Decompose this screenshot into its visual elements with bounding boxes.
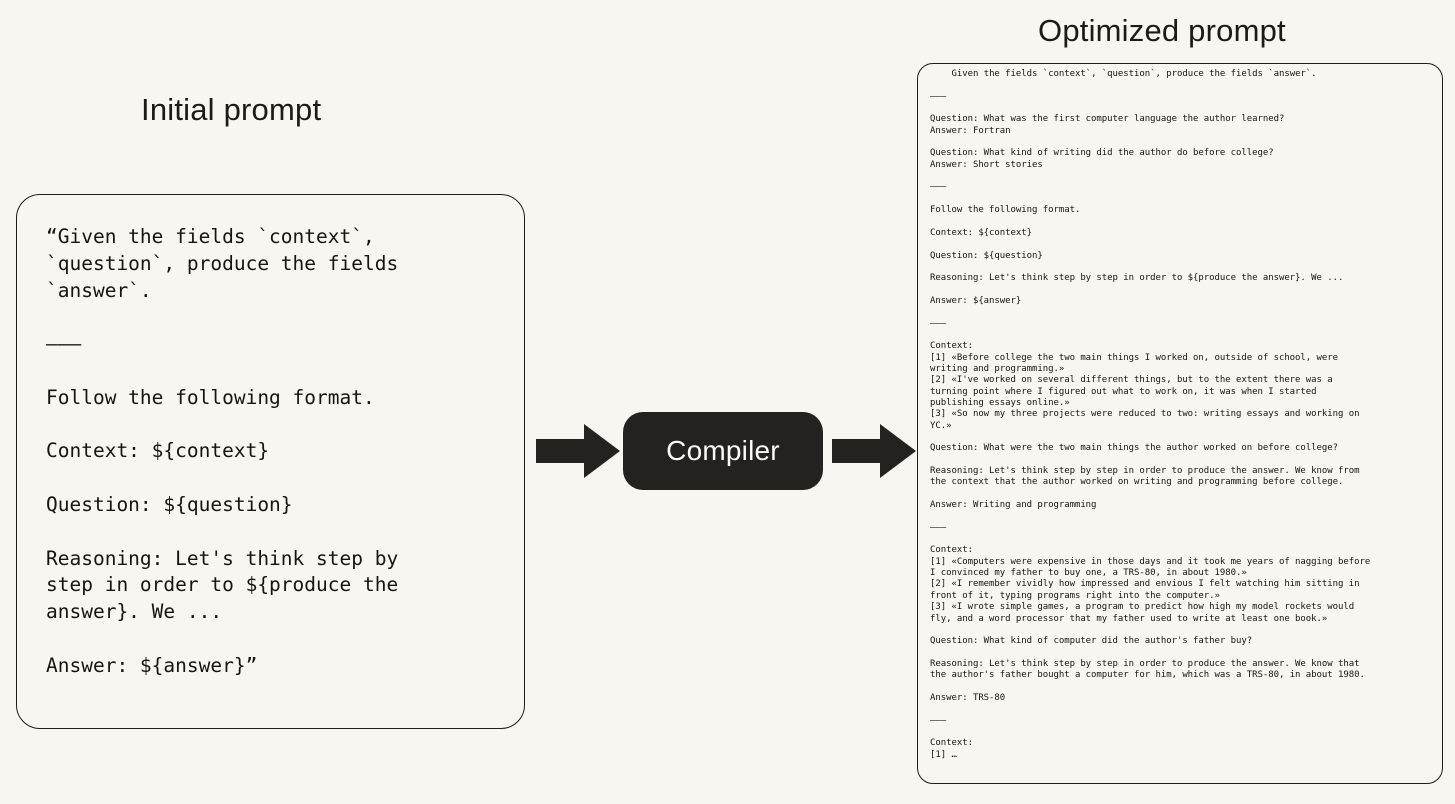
- initial-prompt-box: “Given the fields `context`, `question`,…: [16, 194, 525, 729]
- arrow-compiler-to-optimized-icon: [832, 424, 916, 478]
- optimized-prompt-box: Given the fields `context`, `question`, …: [917, 63, 1443, 784]
- optimized-prompt-title: Optimized prompt: [1038, 13, 1286, 49]
- diagram-canvas: Initial prompt Optimized prompt “Given t…: [0, 0, 1455, 804]
- compiler-label: Compiler: [666, 435, 780, 467]
- initial-prompt-title: Initial prompt: [141, 92, 321, 128]
- compiler-node[interactable]: Compiler: [623, 412, 823, 490]
- optimized-prompt-text: Given the fields `context`, `question`, …: [930, 69, 1438, 761]
- initial-prompt-text: “Given the fields `context`, `question`,…: [46, 224, 510, 680]
- arrow-initial-to-compiler-icon: [536, 424, 620, 478]
